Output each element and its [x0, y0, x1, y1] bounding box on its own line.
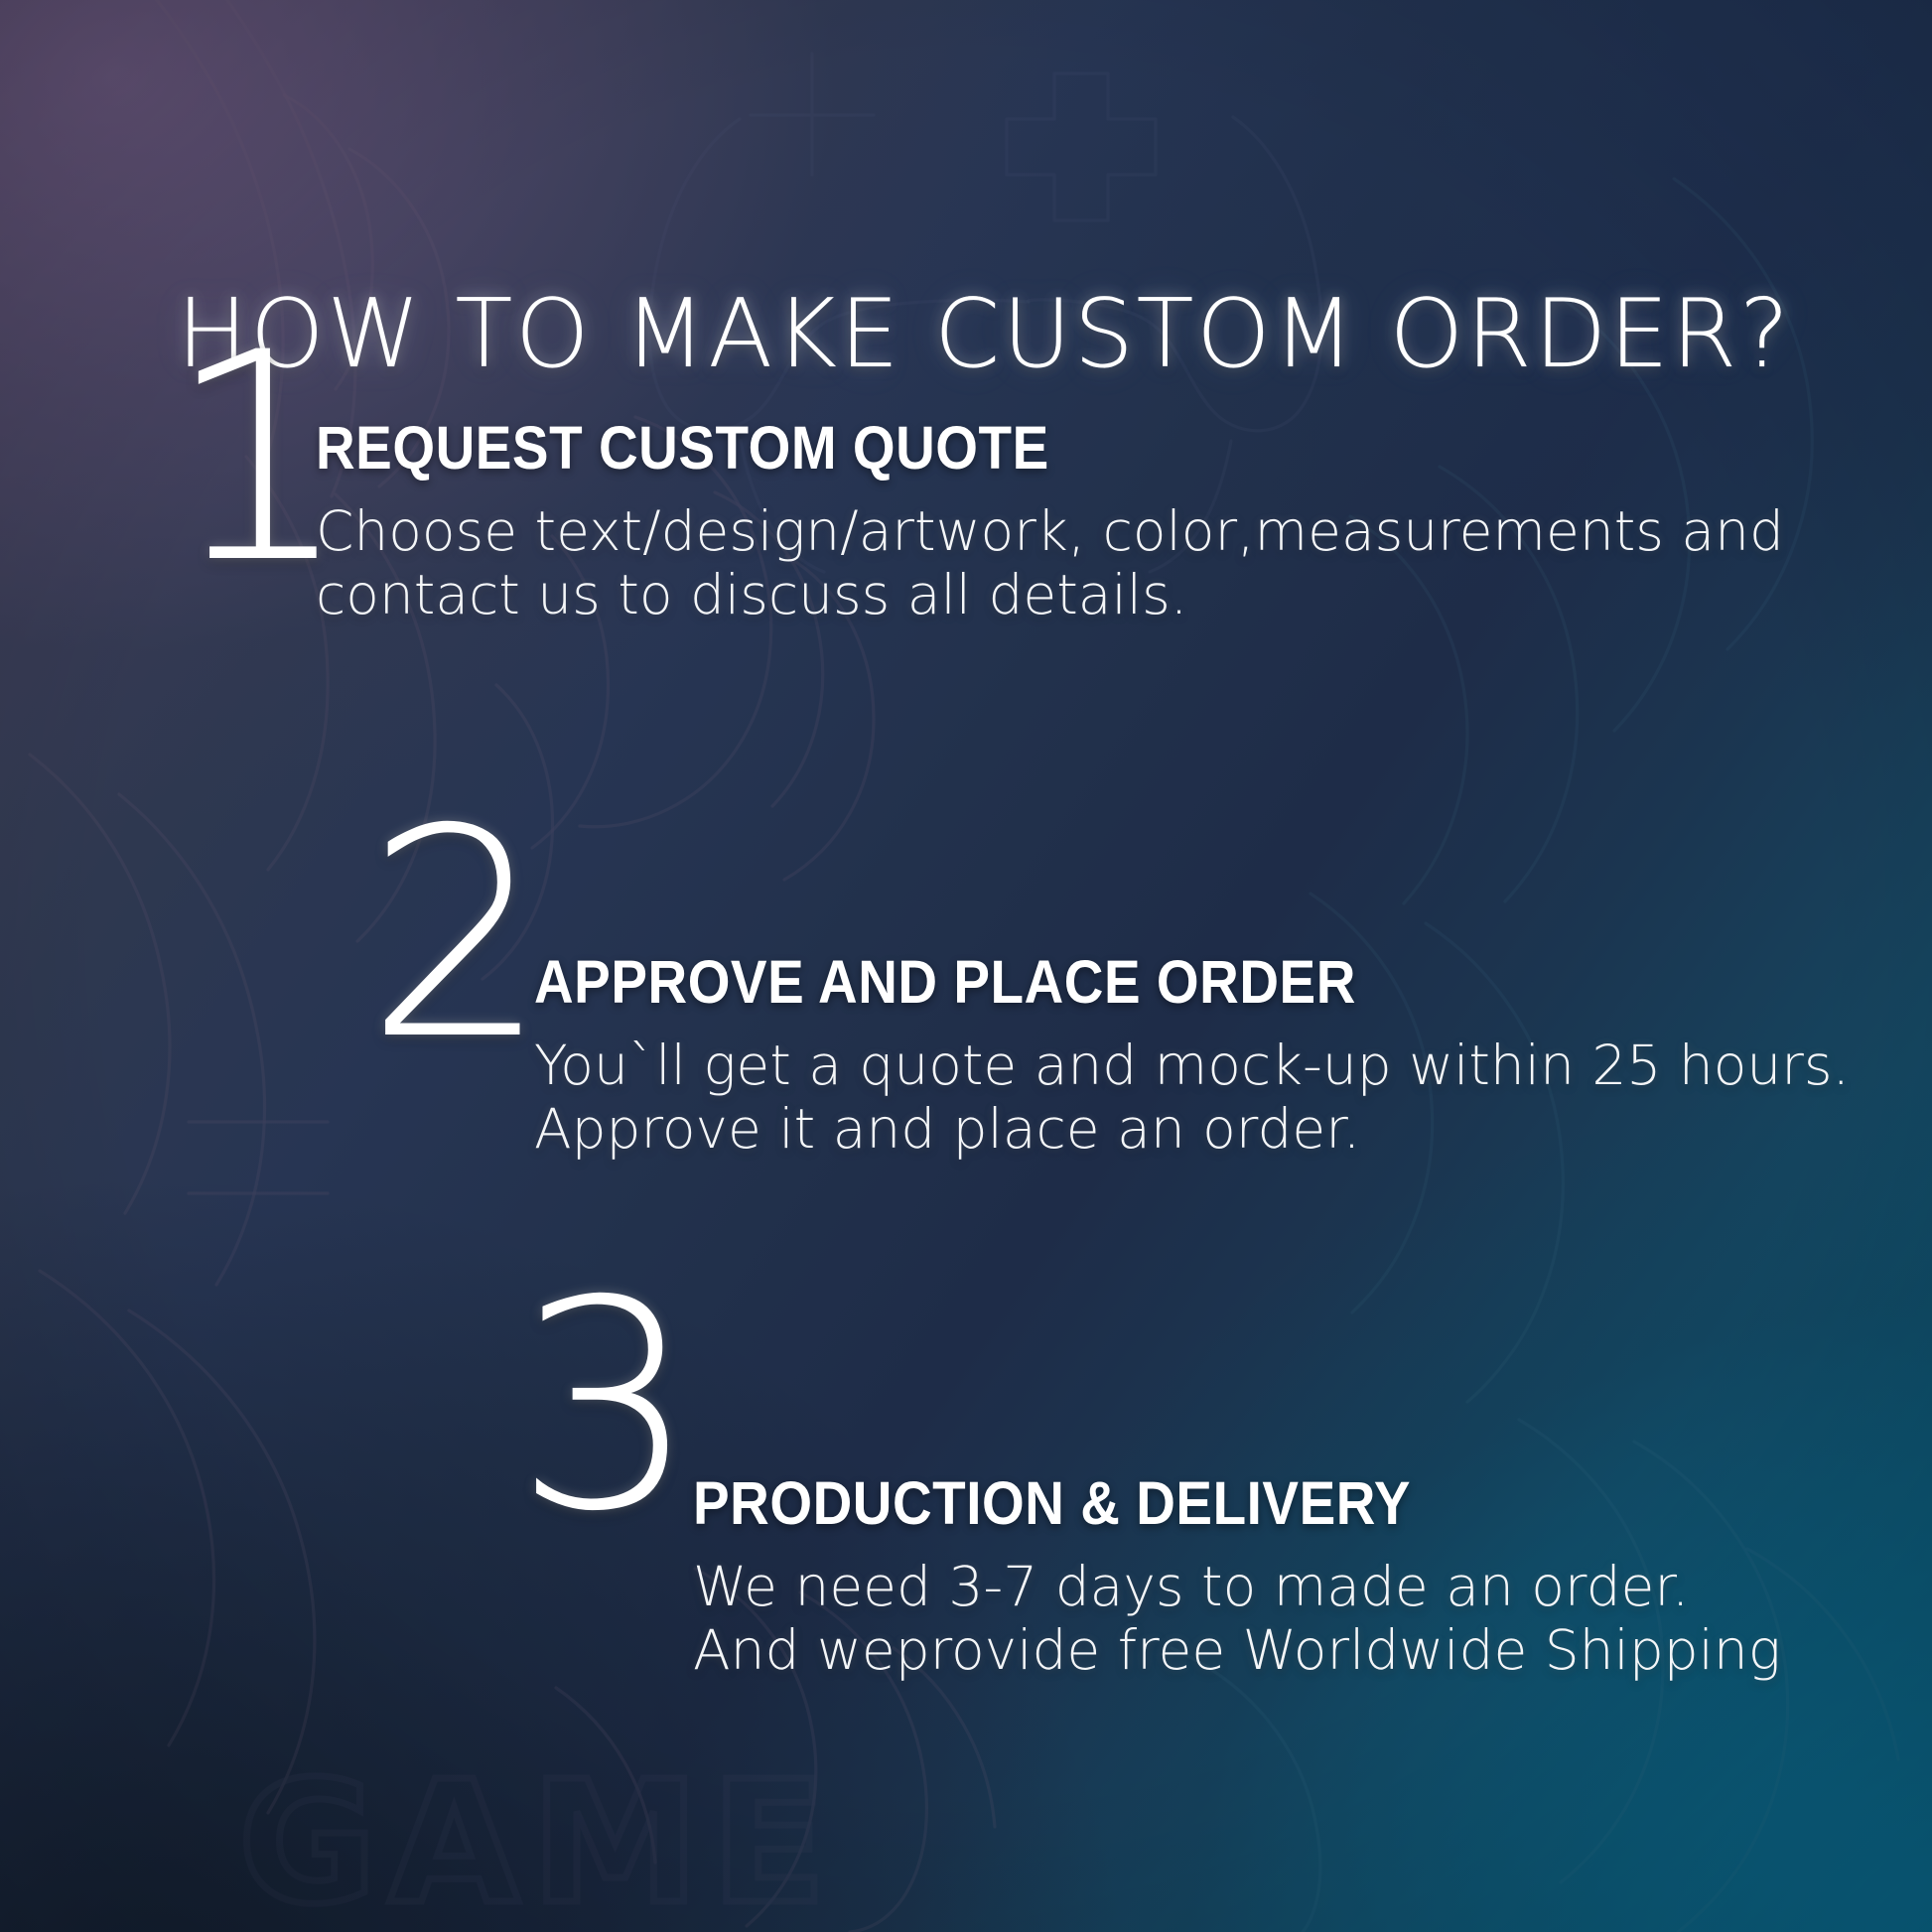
step-heading-3: PRODUCTION & DELIVERY [693, 1473, 1672, 1534]
step-text-3: We need 3-7 days to made an order. And w… [693, 1556, 1781, 1683]
step-item-1: 1 REQUEST CUSTOM QUOTE Choose text/desig… [167, 412, 1784, 627]
step-text-line: We need 3-7 days to made an order. [693, 1556, 1781, 1619]
step-text-line: contact us to discuss all details. [316, 564, 1784, 627]
step-body-1: REQUEST CUSTOM QUOTE Choose text/design/… [316, 412, 1784, 627]
step-item-3: 3 PRODUCTION & DELIVERY We need 3-7 days… [514, 1360, 1781, 1683]
step-number-2: 2 [365, 833, 534, 1040]
step-item-2: 2 APPROVE AND PLACE ORDER You`ll get a q… [365, 889, 1850, 1162]
page-title: HOW TO MAKE CUSTOM ORDER? [177, 288, 1792, 382]
step-text-line: Approve it and place an order. [534, 1098, 1850, 1162]
step-body-3: PRODUCTION & DELIVERY We need 3-7 days t… [693, 1360, 1781, 1683]
step-heading-1: REQUEST CUSTOM QUOTE [316, 418, 1637, 479]
step-body-2: APPROVE AND PLACE ORDER You`ll get a quo… [534, 889, 1850, 1162]
step-text-2: You`ll get a quote and mock-up within 25… [534, 1035, 1850, 1162]
step-number-3: 3 [514, 1305, 693, 1512]
step-text-line: And weprovide free Worldwide Shipping [693, 1619, 1781, 1683]
step-text-line: You`ll get a quote and mock-up within 25… [534, 1035, 1850, 1098]
infographic-content: HOW TO MAKE CUSTOM ORDER? 1 REQUEST CUST… [0, 0, 1932, 1932]
infographic-canvas: GAME HOW TO MAKE CUSTOM ORDER? 1 REQUEST… [0, 0, 1932, 1932]
step-text-line: Choose text/design/artwork, color,measur… [316, 500, 1784, 564]
step-text-1: Choose text/design/artwork, color,measur… [316, 500, 1784, 627]
step-number-1: 1 [167, 356, 316, 564]
step-heading-2: APPROVE AND PLACE ORDER [534, 952, 1719, 1013]
